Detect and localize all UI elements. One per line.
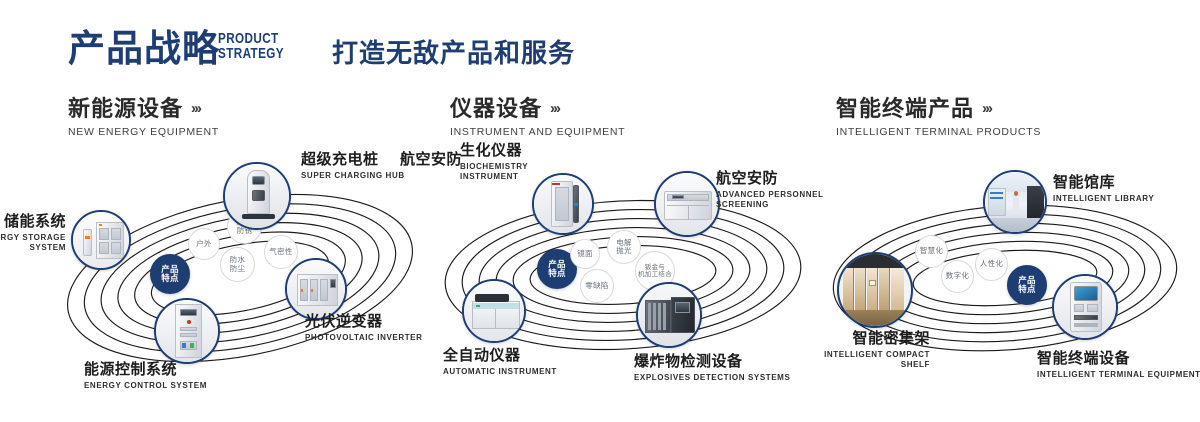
feature-bubble-text: 零缺陷 [585, 282, 608, 291]
product-label-advanced-personnel-screening: 航空安防 ADVANCED PERSONNEL SCREENING [716, 170, 824, 210]
product-label-biochemistry-instrument: 生化仪器 BIOCHEMISTRY INSTRUMENT [460, 142, 528, 182]
product-circle-photovoltaic-inverter[interactable] [285, 258, 347, 320]
core-bubble-product-features: 产品 特点 [1007, 265, 1047, 305]
page-slogan: 打造无敌产品和服务 [332, 37, 575, 69]
product-circle-intelligent-library[interactable] [983, 170, 1047, 234]
section-heading-instrument: 仪器设备››› INSTRUMENT AND EQUIPMENT [450, 96, 625, 138]
chevron-right-icons: ››› [191, 96, 200, 122]
product-label-explosives-detection: 爆炸物检测设备 EXPLOSIVES DETECTION SYSTEMS [634, 353, 790, 383]
product-label-en-line1: INTELLIGENT TERMINAL EQUIPMENT [1037, 370, 1200, 380]
product-label-cn: 智能终端设备 [1037, 350, 1200, 368]
feature-bubble: 人性化 [975, 248, 1008, 281]
section-heading-cn: 新能源设备››› [68, 96, 219, 122]
product-circle-intelligent-compact-shelf[interactable] [837, 252, 913, 328]
feature-bubble: 防水 防尘 [220, 247, 255, 282]
feature-bubble: 智慧化 [915, 235, 948, 268]
product-label-intelligent-library: 智能馆库 INTELLIGENT LIBRARY [1053, 174, 1154, 204]
product-circle-automatic-instrument[interactable] [462, 279, 526, 343]
chevron-right-icons: ››› [550, 96, 559, 122]
product-label-en-line1: BIOCHEMISTRY [460, 162, 528, 172]
poster-root: 产品战略 PRODUCT STRATEGY 打造无敌产品和服务 新能源设备›››… [0, 0, 1200, 422]
cluster-intelligent-terminal: 智慧化 人性化 数字化 产品 特点 [815, 160, 1200, 395]
product-label-cn: 航空安防 [390, 151, 462, 169]
section-heading-en: INSTRUMENT AND EQUIPMENT [450, 126, 625, 138]
product-circle-energy-storage[interactable] [71, 210, 131, 270]
product-label-en-line2: INSTRUMENT [460, 172, 528, 182]
page-title: 产品战略 [68, 27, 220, 71]
product-circle-super-charging-hub[interactable] [223, 162, 291, 230]
section-heading-cn: 仪器设备››› [450, 96, 625, 122]
section-heading-new-energy: 新能源设备››› NEW ENERGY EQUIPMENT [68, 96, 219, 138]
product-label-en-line1: SUPER CHARGING HUB [301, 171, 405, 181]
product-label-en-line1: ADVANCED PERSONNEL [716, 190, 824, 200]
chevron-right-icons: ››› [982, 96, 991, 122]
product-label-cn: 爆炸物检测设备 [634, 353, 790, 371]
feature-bubble: 电解 抛光 [607, 230, 641, 264]
cluster-new-energy: 户外 防腐 防锈 防水 防尘 气密性 产品 特点 [40, 150, 440, 400]
product-label-energy-storage: 储能系统 ENERGY STORAGE SYSTEM [0, 213, 66, 253]
product-label-en-line1: INTELLIGENT COMPACT [810, 350, 930, 360]
product-label-energy-control-system: 能源控制系统 ENERGY CONTROL SYSTEM [84, 361, 207, 391]
feature-bubble: 数字化 [941, 260, 974, 293]
product-label-en-line2: SYSTEM [0, 243, 66, 253]
feature-bubble-text: 钣金与 [645, 264, 665, 272]
product-label-en-line1: ENERGY CONTROL SYSTEM [84, 381, 207, 391]
product-label-en-line2: SCREENING [716, 200, 824, 210]
product-label-cn: 智能馆库 [1053, 174, 1154, 192]
product-label-en-line1: INTELLIGENT LIBRARY [1053, 194, 1154, 204]
feature-bubble-text: 户外 [196, 240, 212, 249]
product-circle-explosives-detection[interactable] [636, 282, 702, 348]
product-label-cn: 智能密集架 [810, 330, 930, 348]
product-label-cn: 储能系统 [0, 213, 66, 231]
feature-bubble-text: 镜面 [577, 250, 593, 259]
product-label-aviation-security-left: 航空安防 [390, 151, 462, 169]
feature-bubble-text: 人性化 [980, 260, 1003, 269]
product-label-cn: 生化仪器 [460, 142, 528, 160]
feature-bubble: 镜面 [570, 239, 600, 269]
feature-bubble-text: 抛光 [616, 247, 632, 256]
feature-bubble-text: 智慧化 [920, 247, 943, 256]
product-circle-advanced-personnel-screening[interactable] [654, 171, 720, 237]
product-circle-biochemistry-instrument[interactable] [532, 173, 594, 235]
product-label-en-line1: AUTOMATIC INSTRUMENT [443, 367, 557, 377]
feature-bubble: 户外 [188, 228, 220, 260]
feature-bubble-text: 防尘 [230, 265, 246, 274]
product-label-cn: 能源控制系统 [84, 361, 207, 379]
poster-header: 产品战略 PRODUCT STRATEGY 打造无敌产品和服务 [0, 0, 1200, 88]
core-bubble-product-features: 产品 特点 [150, 254, 190, 294]
feature-bubble-text: 气密性 [269, 248, 292, 257]
feature-bubble: 零缺陷 [580, 269, 614, 303]
product-circle-energy-control-system[interactable] [154, 298, 220, 364]
product-label-en-line1: PHOTOVOLTAIC INVERTER [305, 333, 423, 343]
section-heading-intelligent-terminal: 智能终端产品››› INTELLIGENT TERMINAL PRODUCTS [836, 96, 1041, 138]
product-label-en-line1: EXPLOSIVES DETECTION SYSTEMS [634, 373, 790, 383]
page-title-english-line2: STRATEGY [218, 46, 284, 61]
product-label-automatic-instrument: 全自动仪器 AUTOMATIC INSTRUMENT [443, 347, 557, 377]
product-label-cn: 全自动仪器 [443, 347, 557, 365]
section-heading-cn: 智能终端产品››› [836, 96, 1041, 122]
core-bubble-line2: 特点 [1018, 285, 1036, 295]
section-heading-en: NEW ENERGY EQUIPMENT [68, 126, 219, 138]
feature-bubble-text: 数字化 [946, 272, 969, 281]
product-label-cn: 航空安防 [716, 170, 824, 188]
feature-bubble-text: 机加工结合 [638, 271, 672, 279]
product-label-en-line1: ENERGY STORAGE [0, 233, 66, 243]
core-bubble-line2: 特点 [161, 274, 179, 284]
product-label-cn: 光伏逆变器 [305, 313, 423, 331]
product-label-en-line2: SHELF [810, 360, 930, 370]
page-title-english-line1: PRODUCT [218, 31, 284, 46]
cluster-instrument: 产品 特点 镜面 电解 抛光 钣金与 机加工结合 零缺陷 [425, 155, 825, 395]
product-label-photovoltaic-inverter: 光伏逆变器 PHOTOVOLTAIC INVERTER [305, 313, 423, 343]
product-label-intelligent-terminal-equipment: 智能终端设备 INTELLIGENT TERMINAL EQUIPMENT [1037, 350, 1200, 380]
section-heading-en: INTELLIGENT TERMINAL PRODUCTS [836, 126, 1041, 138]
product-circle-intelligent-terminal-equipment[interactable] [1052, 274, 1118, 340]
product-label-intelligent-compact-shelf: 智能密集架 INTELLIGENT COMPACT SHELF [810, 330, 930, 370]
core-bubble-line2: 特点 [548, 269, 566, 279]
page-title-english: PRODUCT STRATEGY [218, 31, 284, 61]
